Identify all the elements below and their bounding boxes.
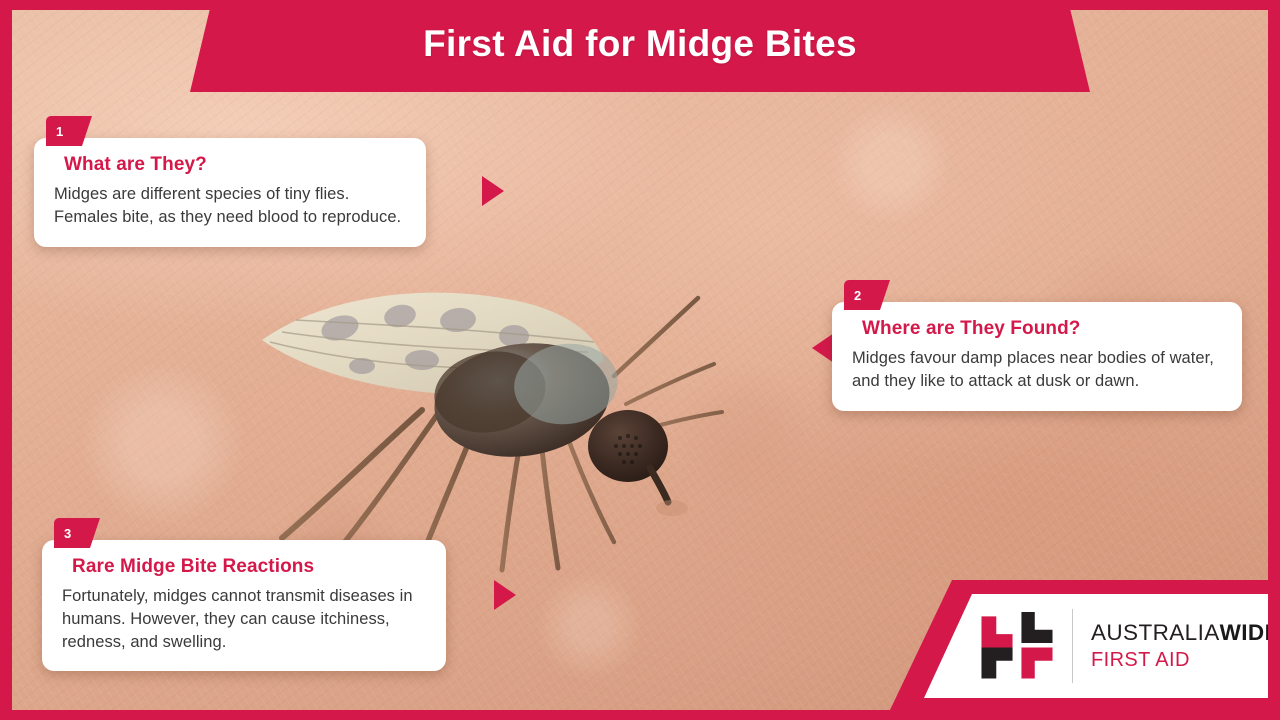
four-quadrant-cross-icon (980, 609, 1054, 683)
logo-wordmark: AUSTRALIAWIDE FIRST AID (1091, 620, 1280, 672)
infographic-poster: First Aid for Midge Bites 1 What are The… (0, 0, 1280, 720)
card-heading-1: What are They? (64, 154, 406, 176)
card-body-text-1: Midges are different species of tiny fli… (54, 183, 406, 229)
header-banner: First Aid for Midge Bites (190, 0, 1090, 92)
card-heading-2: Where are They Found? (862, 318, 1222, 340)
logo-divider (1072, 609, 1073, 683)
info-card-body-1: What are They? Midges are different spec… (34, 138, 426, 247)
midge-insect-icon (222, 280, 742, 580)
card-pointer-3 (494, 580, 516, 610)
logo-lockup: AUSTRALIAWIDE FIRST AID (890, 580, 1268, 710)
card-pointer-2 (812, 333, 834, 363)
logo-name-bold: WIDE (1220, 620, 1280, 645)
card-pointer-1 (482, 176, 504, 206)
info-card-body-2: Where are They Found? Midges favour damp… (832, 302, 1242, 411)
card-body-text-2: Midges favour damp places near bodies of… (852, 347, 1222, 393)
card-heading-3: Rare Midge Bite Reactions (72, 556, 426, 578)
info-card-body-3: Rare Midge Bite Reactions Fortunately, m… (42, 540, 446, 671)
logo-panel: AUSTRALIAWIDE FIRST AID (924, 594, 1268, 698)
card-body-text-3: Fortunately, midges cannot transmit dise… (62, 585, 426, 653)
page-title: First Aid for Midge Bites (423, 23, 857, 65)
logo-tagline: FIRST AID (1091, 649, 1280, 672)
logo-name-light: AUSTRALIA (1091, 620, 1220, 645)
